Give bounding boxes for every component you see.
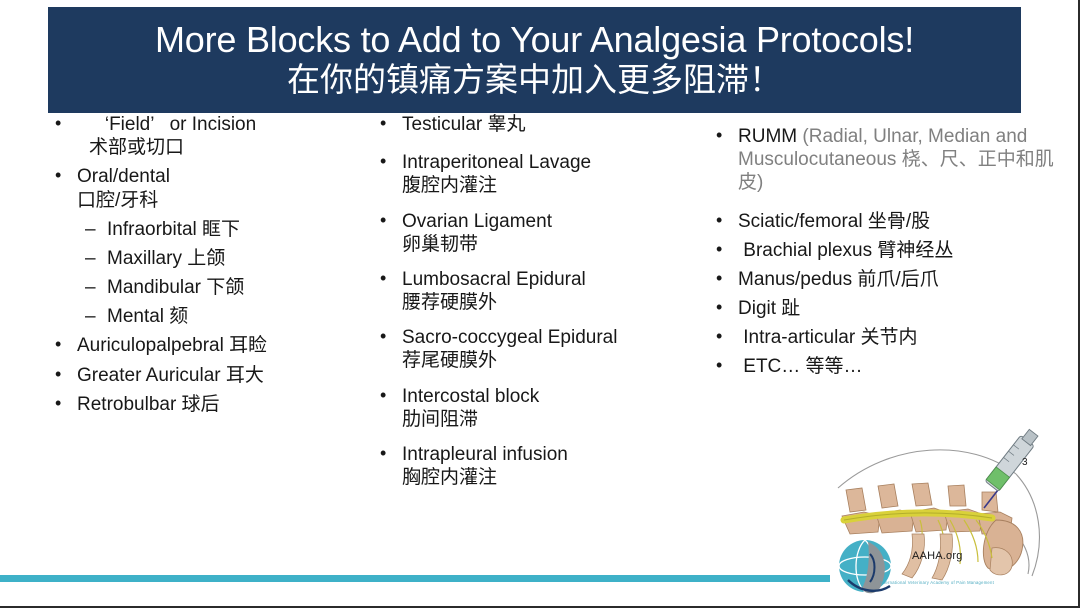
list-item: • Retrobulbar 球后	[55, 393, 375, 416]
list-item: • Sacro-coccygeal Epidural 荐尾硬膜外	[380, 326, 710, 372]
list-item: • RUMM (Radial, Ulnar, Median and Muscul…	[716, 125, 1056, 195]
dash-bullet-icon: –	[85, 247, 107, 270]
spine-illustration-svg: 3	[820, 428, 1064, 600]
bullet-icon: •	[55, 334, 77, 356]
bullet-icon: •	[380, 443, 402, 465]
bullet-icon: •	[716, 125, 738, 147]
list-item-label-en: RUMM	[738, 126, 802, 147]
bullet-icon: •	[716, 326, 738, 348]
bullet-column-middle: • Testicular 睾丸 • Intraperitoneal Lavage…	[380, 113, 710, 489]
list-item-label-zh: 术部或切口	[89, 136, 375, 159]
bullet-column-left: • ‘Field’ or Incision 术部或切口 • Oral/denta…	[55, 113, 375, 416]
list-item-label-en: Intrapleural infusion	[402, 443, 710, 466]
bullet-column-right: • RUMM (Radial, Ulnar, Median and Muscul…	[716, 113, 1056, 379]
list-item: • Digit 趾	[716, 297, 1056, 320]
list-item-label-en: Greater Auricular 耳大	[77, 364, 375, 387]
list-item: • Brachial plexus 臂神经丛	[716, 239, 1056, 262]
bullet-icon: •	[716, 268, 738, 290]
list-item-label-en: Ovarian Ligament	[402, 210, 710, 233]
sub-list-item-label: Maxillary 上颌	[107, 247, 375, 270]
page-title-english: More Blocks to Add to Your Analgesia Pro…	[155, 21, 914, 60]
spacer	[380, 198, 710, 210]
list-item-label-zh: 卵巢韧带	[402, 233, 710, 256]
accent-bar	[0, 575, 830, 582]
list-item-label-en: Intercostal block	[402, 385, 710, 408]
ivapm-logo	[839, 540, 891, 593]
syringe-step-number: 3	[1022, 457, 1028, 468]
bullet-icon: •	[55, 393, 77, 415]
list-item: • Intercostal block 肋间阻滞	[380, 385, 710, 431]
sub-list-item-label: Infraorbital 眶下	[107, 218, 375, 241]
list-item: • Intra-articular 关节内	[716, 326, 1056, 349]
bullet-icon: •	[716, 210, 738, 232]
spacer	[380, 314, 710, 326]
sub-list-item-label: Mandibular 下颌	[107, 276, 375, 299]
sub-list-item: – Maxillary 上颌	[85, 247, 375, 270]
sub-list-item: – Infraorbital 眶下	[85, 218, 375, 241]
list-item-label-en: ‘Field’ or Incision	[89, 113, 375, 136]
list-item-label-en: ETC… 等等…	[738, 355, 1056, 378]
list-item: • ETC… 等等…	[716, 355, 1056, 378]
bullet-icon: •	[716, 239, 738, 261]
bullet-icon: •	[380, 210, 402, 232]
aaha-attribution-label: AAHA.org	[912, 550, 963, 562]
spacer	[380, 136, 710, 151]
list-item-label-en: Auriculopalpebral 耳睑	[77, 334, 375, 357]
list-item: • Sciatic/femoral 坐骨/股	[716, 210, 1056, 233]
ivapm-tagline: International Veterinary Academy of Pain…	[880, 580, 994, 585]
list-item: • Intrapleural infusion 胸腔内灌注	[380, 443, 710, 489]
list-item: • ‘Field’ or Incision 术部或切口	[55, 113, 375, 159]
bullet-icon: •	[55, 165, 77, 187]
list-item: • Testicular 睾丸	[380, 113, 710, 136]
bullet-icon: •	[716, 297, 738, 319]
list-item-label-en: Digit 趾	[738, 297, 1056, 320]
list-item-label-en: Lumbosacral Epidural	[402, 268, 710, 291]
dash-bullet-icon: –	[85, 305, 107, 328]
list-item: • Ovarian Ligament 卵巢韧带	[380, 210, 710, 256]
spacer	[380, 431, 710, 443]
sub-list-item: – Mandibular 下颌	[85, 276, 375, 299]
list-item-label-zh: 荐尾硬膜外	[402, 349, 710, 372]
bullet-icon: •	[380, 326, 402, 348]
syringe-icon: 3	[984, 428, 1040, 508]
list-item-label-en: Oral/dental	[77, 165, 375, 188]
list-item-label-zh: 腹腔内灌注	[402, 174, 710, 197]
list-item-label-en: Intraperitoneal Lavage	[402, 151, 710, 174]
list-item: • Auriculopalpebral 耳睑	[55, 334, 375, 357]
list-item-label-en: Manus/pedus 前爪/后爪	[738, 268, 1056, 291]
list-item-label-en: Brachial plexus 臂神经丛	[738, 239, 1056, 262]
bullet-icon: •	[55, 364, 77, 386]
list-item: • Manus/pedus 前爪/后爪	[716, 268, 1056, 291]
list-item: • Greater Auricular 耳大	[55, 364, 375, 387]
bullet-icon: •	[380, 268, 402, 290]
list-item-label-zh: 腰荐硬膜外	[402, 291, 710, 314]
list-item-label-zh: 胸腔内灌注	[402, 466, 710, 489]
list-item-label-en: Intra-articular 关节内	[738, 326, 1056, 349]
list-item: • Intraperitoneal Lavage 腹腔内灌注	[380, 151, 710, 197]
spine-epidural-illustration: 3 AAHA.org International Veterinary Acad…	[820, 428, 1064, 600]
list-item-label-en: Sacro-coccygeal Epidural	[402, 326, 710, 349]
list-item-label-zh: 肋间阻滞	[402, 408, 710, 431]
slide-canvas: More Blocks to Add to Your Analgesia Pro…	[0, 0, 1080, 608]
spacer	[716, 195, 1056, 210]
body-contour-right	[1016, 474, 1039, 576]
list-item: • Oral/dental 口腔/牙科	[55, 165, 375, 211]
list-item-label-zh: 口腔/牙科	[77, 189, 375, 212]
spacer	[380, 256, 710, 268]
bullet-icon: •	[716, 355, 738, 377]
list-item-label-en: Retrobulbar 球后	[77, 393, 375, 416]
list-item-label-en: Testicular 睾丸	[402, 113, 710, 136]
list-item: • Lumbosacral Epidural 腰荐硬膜外	[380, 268, 710, 314]
dash-bullet-icon: –	[85, 218, 107, 241]
bullet-icon: •	[380, 151, 402, 173]
spacer	[716, 113, 1056, 125]
slide-title-banner: More Blocks to Add to Your Analgesia Pro…	[48, 7, 1021, 113]
page-title-chinese: 在你的镇痛方案中加入更多阻滞！	[287, 62, 782, 98]
bullet-icon: •	[380, 113, 402, 135]
sub-list-item: – Mental 颏	[85, 305, 375, 328]
dash-bullet-icon: –	[85, 276, 107, 299]
list-item-label-en: Sciatic/femoral 坐骨/股	[738, 210, 1056, 233]
spacer	[380, 373, 710, 385]
sub-list-item-label: Mental 颏	[107, 305, 375, 328]
bullet-icon: •	[380, 385, 402, 407]
bullet-icon: •	[55, 113, 77, 135]
